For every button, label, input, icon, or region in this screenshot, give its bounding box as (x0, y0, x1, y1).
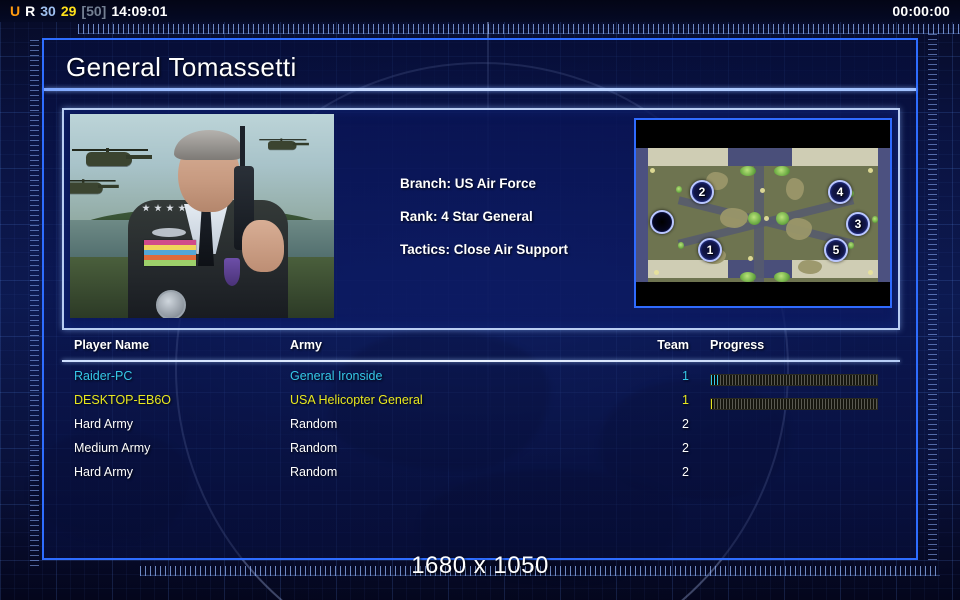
page-title: General Tomassetti (44, 46, 916, 88)
stat-branch: Branch: US Air Force (400, 176, 568, 191)
cell-player-name: DESKTOP-EB6O (74, 393, 171, 407)
map-start-position-4: 4 (828, 180, 852, 204)
map-foliage (774, 166, 790, 176)
stat-rank: Rank: 4 Star General (400, 209, 568, 224)
map-foliage (678, 242, 684, 249)
ruler-left (30, 40, 39, 568)
table-row[interactable]: Hard ArmyRandom2 (62, 414, 900, 438)
map-foliage (740, 272, 756, 282)
cell-army: Random (290, 465, 337, 479)
map-resource (760, 188, 765, 193)
purple-heart-medal-icon (224, 258, 240, 286)
cell-team: 2 (657, 417, 689, 431)
title-divider (44, 88, 916, 91)
status-value-2: 29 (61, 3, 77, 19)
resolution-label: 1680 x 1050 (0, 552, 960, 580)
service-ribbons (144, 240, 196, 266)
column-header-player-name: Player Name (74, 338, 149, 352)
map-start-position-2: 2 (690, 180, 714, 204)
cell-army: General Ironside (290, 369, 382, 383)
column-header-team: Team (657, 338, 689, 352)
cell-team: 1 (657, 369, 689, 383)
map-foliage (848, 242, 854, 249)
column-header-progress: Progress (710, 338, 764, 352)
cell-army: Random (290, 441, 337, 455)
column-header-army: Army (290, 338, 322, 352)
hair (174, 130, 244, 160)
cell-player-name: Medium Army (74, 441, 150, 455)
map-foliage (774, 272, 790, 282)
map-start-position-1: 1 (698, 238, 722, 262)
cell-player-name: Hard Army (74, 465, 133, 479)
cell-army: USA Helicopter General (290, 393, 423, 407)
progress-bar (710, 398, 878, 410)
table-row[interactable]: Hard ArmyRandom2 (62, 462, 900, 486)
map-edge-strip-right (878, 148, 890, 282)
cell-progress (710, 369, 878, 381)
status-prefix-r: R (25, 3, 35, 19)
map-start-position-5: 5 (824, 238, 848, 262)
map-start-position-empty (650, 210, 674, 234)
progress-bar-fill (711, 375, 718, 385)
stat-tactics: Tactics: Close Air Support (400, 242, 568, 257)
cell-team: 2 (657, 441, 689, 455)
map-gate-top (728, 148, 792, 166)
map-foliage (872, 216, 878, 223)
map-resource (650, 168, 655, 173)
map-preview: 12345 (634, 118, 892, 308)
pilot-wings-icon (152, 228, 186, 237)
cell-army: Random (290, 417, 337, 431)
status-value-1: 30 (40, 3, 56, 19)
map-start-position-3: 3 (846, 212, 870, 236)
progress-bar (710, 374, 878, 386)
map-foliage (740, 166, 756, 176)
cell-team: 2 (657, 465, 689, 479)
map-resource (748, 256, 753, 261)
hand (242, 220, 284, 272)
top-status-bar: UR 30 29[50] 14:09:01 00:00:00 (0, 0, 960, 22)
status-bracket-value: [50] (81, 3, 106, 19)
table-header: Player Name Army Team Progress (62, 338, 900, 360)
status-clock: 14:09:01 (111, 3, 167, 19)
map-resource (868, 270, 873, 275)
map-resource (868, 168, 873, 173)
map-resource (764, 216, 769, 221)
table-row[interactable]: DESKTOP-EB6OUSA Helicopter General1 (62, 390, 900, 414)
general-portrait (70, 114, 334, 318)
radio-antenna (240, 126, 245, 170)
status-timer: 00:00:00 (892, 3, 950, 19)
map-edge-strip-left (636, 148, 648, 282)
ruler-top (78, 24, 960, 34)
map-foliage (776, 212, 789, 225)
uniform-badge-icon (156, 290, 186, 318)
general-figure (122, 130, 290, 318)
map-foliage (748, 212, 761, 225)
cell-player-name: Hard Army (74, 417, 133, 431)
player-list: Player Name Army Team Progress Raider-PC… (62, 338, 900, 484)
general-stats: Branch: US Air Force Rank: 4 Star Genera… (400, 176, 568, 275)
status-left-group: UR 30 29[50] 14:09:01 (10, 3, 167, 19)
map-foliage (676, 186, 682, 193)
table-row[interactable]: Medium ArmyRandom2 (62, 438, 900, 462)
status-prefix-u: U (10, 3, 20, 19)
game-screen: UR 30 29[50] 14:09:01 00:00:00 General T… (0, 0, 960, 600)
table-row[interactable]: Raider-PCGeneral Ironside1 (62, 366, 900, 390)
cell-team: 1 (657, 393, 689, 407)
table-header-divider (62, 360, 900, 362)
progress-bar-fill (711, 399, 713, 409)
map-resource (654, 270, 659, 275)
table-body: Raider-PCGeneral Ironside1DESKTOP-EB6OUS… (62, 366, 900, 486)
ruler-right (928, 34, 937, 564)
cell-player-name: Raider-PC (74, 369, 132, 383)
cell-progress (710, 393, 878, 405)
